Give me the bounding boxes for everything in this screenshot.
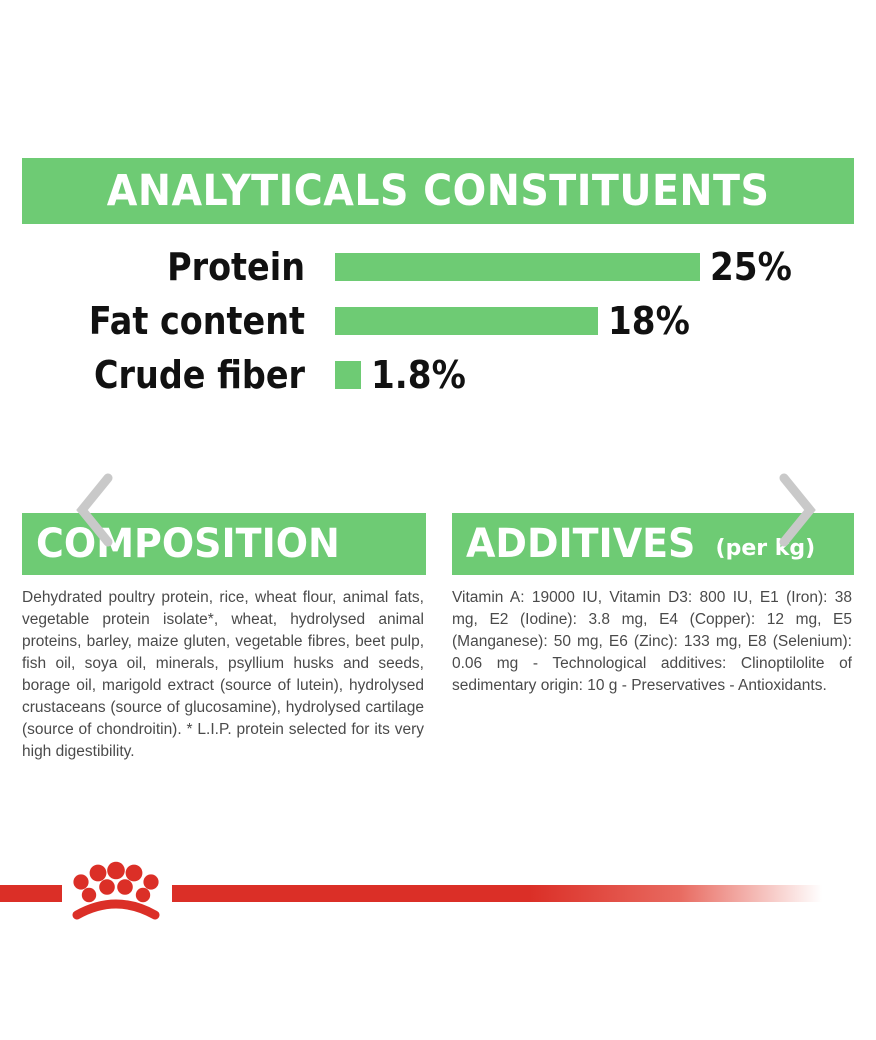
footer-red-bar-right	[172, 885, 822, 902]
chart-bar-fat-content	[335, 307, 598, 335]
chart-label-protein: Protein	[37, 248, 305, 286]
chart-label-crude-fiber: Crude fiber	[37, 356, 305, 394]
chart-row-crude-fiber: Crude fiber 1.8%	[0, 348, 876, 402]
chart-bar-wrap-protein: 25%	[335, 248, 801, 286]
chart-bar-protein	[335, 253, 700, 281]
chart-value-crude-fiber: 1.8%	[371, 356, 466, 394]
composition-panel: COMPOSITION Dehydrated poultry protein, …	[22, 513, 426, 763]
chart-bar-crude-fiber	[335, 361, 361, 389]
chart-row-protein: Protein 25%	[0, 240, 876, 294]
analyticals-banner-title: ANALYTICALS CONSTITUENTS	[107, 166, 770, 216]
chart-label-fat-content: Fat content	[37, 302, 305, 340]
chart-row-fat-content: Fat content 18%	[0, 294, 876, 348]
chart-value-fat-content: 18%	[608, 302, 690, 340]
additives-header-title: ADDITIVES	[466, 521, 695, 567]
chevron-right-icon[interactable]	[768, 470, 824, 550]
analyticals-bar-chart: Protein 25% Fat content 18% Crude fiber …	[0, 240, 876, 402]
chevron-left-icon[interactable]	[68, 470, 124, 550]
nutrition-label-page: ANALYTICALS CONSTITUENTS Protein 25% Fat…	[0, 0, 876, 1040]
additives-body-text: Vitamin A: 19000 IU, Vitamin D3: 800 IU,…	[452, 587, 854, 697]
brand-footer	[0, 868, 876, 928]
royal-canin-crown-icon	[64, 860, 168, 922]
analyticals-constituents-banner: ANALYTICALS CONSTITUENTS	[22, 158, 854, 224]
chart-value-protein: 25%	[710, 248, 792, 286]
chart-bar-wrap-crude-fiber: 1.8%	[335, 356, 477, 394]
footer-red-bar-left	[0, 885, 62, 902]
chart-bar-wrap-fat-content: 18%	[335, 302, 699, 340]
composition-body-text: Dehydrated poultry protein, rice, wheat …	[22, 587, 426, 763]
